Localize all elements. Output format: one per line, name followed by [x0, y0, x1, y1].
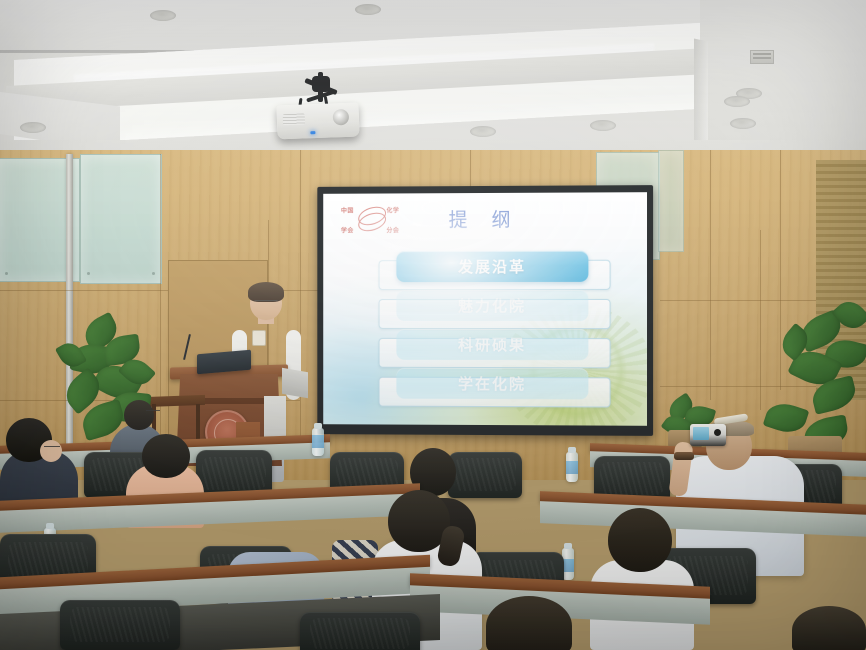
- camera-screen: [693, 427, 709, 440]
- slide-menu-row: 魅力化院: [323, 290, 647, 328]
- camera-lens-icon: [714, 429, 721, 436]
- person-head: [142, 434, 190, 478]
- water-bottle: [312, 428, 324, 456]
- menu-item-4[interactable]: 学在化院: [396, 368, 588, 400]
- water-bottle: [566, 452, 578, 482]
- menu-item-1[interactable]: 发展沿革: [396, 251, 588, 282]
- glass-panel-upper-left2: [80, 154, 162, 284]
- menu-item-2[interactable]: 魅力化院: [396, 290, 588, 321]
- person-head: [486, 596, 572, 650]
- projector-power-led: [310, 131, 315, 134]
- wall-seam: [300, 150, 301, 450]
- person-head: [124, 400, 154, 430]
- slide-title: 提 纲: [323, 204, 647, 232]
- person-head: [792, 606, 866, 650]
- slide-menu-row: 学在化院: [323, 368, 647, 407]
- lecture-hall-photo: 中国 化学 学会 分会 提 纲 发展沿革 魅力化院 科研硕果: [0, 0, 866, 650]
- menu-item-3[interactable]: 科研硕果: [396, 329, 588, 360]
- glasses-icon: [146, 410, 160, 415]
- wall-seam: [760, 230, 761, 410]
- downlight-icon: [355, 4, 381, 15]
- glasses-icon: [44, 446, 60, 452]
- ceiling-vent-icon: [750, 50, 774, 64]
- podium-side-panel: [282, 368, 308, 399]
- slide-menu-row: 发展沿革: [323, 251, 647, 290]
- slide-menu-row: 科研硕果: [323, 329, 647, 368]
- downlight-icon: [20, 122, 46, 133]
- audience-chair[interactable]: [300, 612, 420, 650]
- presenter-glasses-icon: [254, 300, 278, 306]
- downlight-icon: [724, 96, 750, 107]
- presenter-hair: [248, 282, 284, 302]
- downlight-icon: [590, 120, 616, 131]
- downlight-icon: [150, 10, 176, 21]
- wall-seam: [780, 150, 781, 390]
- projection-screen: 中国 化学 学会 分会 提 纲 发展沿革 魅力化院 科研硕果: [323, 192, 647, 426]
- wall-seam: [160, 154, 161, 454]
- wall-seam: [710, 150, 711, 400]
- audience-chair[interactable]: [60, 600, 180, 650]
- downlight-icon: [470, 126, 496, 137]
- ceiling-projector: [276, 103, 359, 140]
- projection-screen-frame: 中国 化学 学会 分会 提 纲 发展沿革 魅力化院 科研硕果: [317, 185, 653, 436]
- projector-lens-icon: [333, 109, 350, 126]
- projector-vent-icon: [283, 113, 305, 125]
- wristwatch-icon: [674, 452, 694, 460]
- person-head: [608, 508, 672, 572]
- slide-menu-list: 发展沿革 魅力化院 科研硕果 学在化院: [323, 251, 647, 408]
- compact-camera[interactable]: [690, 424, 726, 446]
- glass-panel-upper-right2: [658, 150, 684, 252]
- downlight-icon: [730, 118, 756, 129]
- audience-chair[interactable]: [448, 452, 522, 498]
